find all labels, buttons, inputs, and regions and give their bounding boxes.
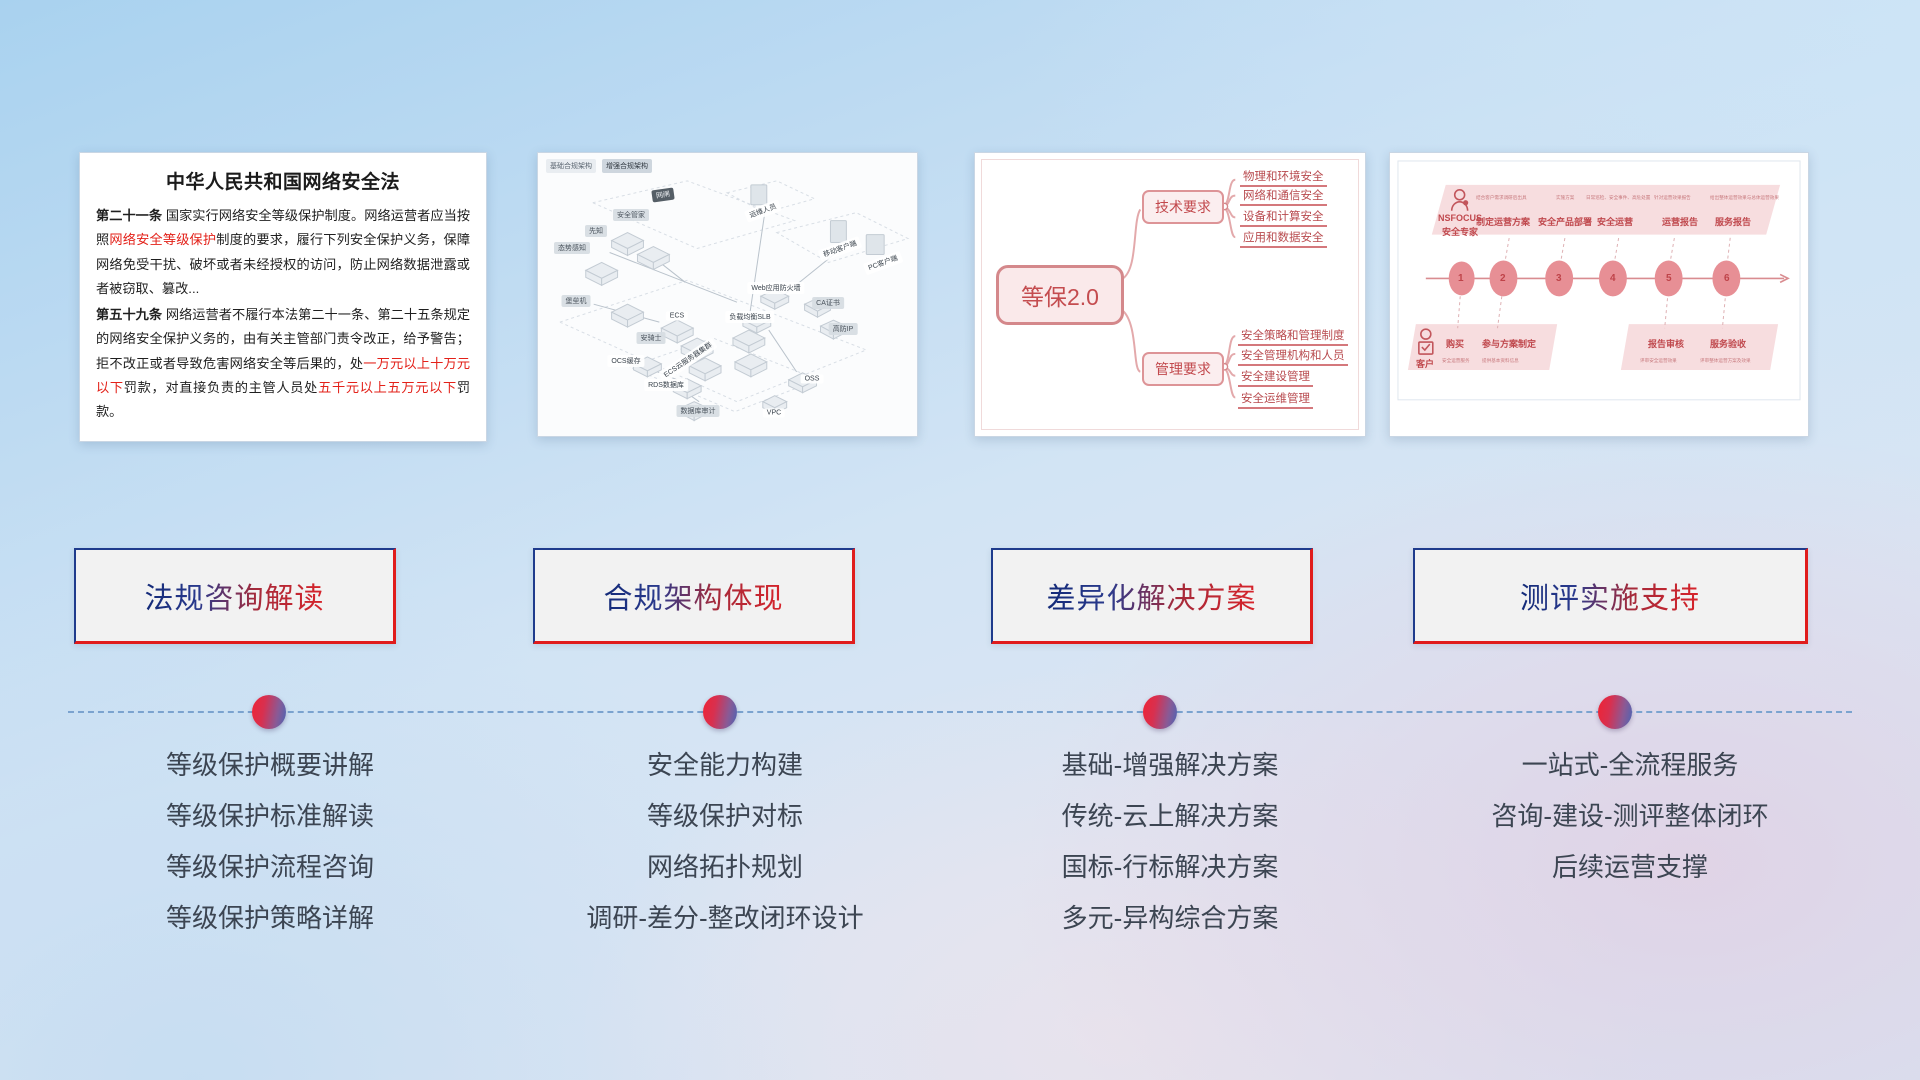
timeline-dot-2[interactable] [703, 695, 737, 729]
list-item: 传统-云上解决方案 [960, 791, 1380, 842]
arch-node-db-audit: 数据库审计 [677, 405, 720, 417]
section-items-column-4: 一站式-全流程服务 咨询-建设-测评整体闭环 后续运营支撑 [1400, 740, 1860, 893]
mindmap-leaf-network-comm: 网络和通信安全 [1240, 187, 1327, 206]
list-item: 等级保护对标 [515, 791, 935, 842]
section-titles-row: 法规咨询解读 合规架构体现 差异化解决方案 测评实施支持 [0, 548, 1920, 644]
mindmap-leaf-org-personnel: 安全管理机构和人员 [1238, 347, 1348, 366]
process-bottom-label-4: 服务验收 [1710, 337, 1746, 350]
law-article-label-1: 第二十一条 [96, 208, 162, 223]
process-top-note-5: 给出整体运营效果与总体运营效果 [1710, 195, 1779, 201]
list-item: 等级保护流程咨询 [60, 842, 480, 893]
list-item: 国标-行标解决方案 [960, 842, 1380, 893]
law-run-2-3: 五千元以上五万元以下 [318, 380, 457, 395]
arch-node-rds-database: RDS数据库 [644, 379, 688, 391]
architecture-connectors [538, 153, 917, 437]
process-top-label-5: 服务报告 [1715, 215, 1751, 228]
mindmap-leaf-ops-mgmt: 安全运维管理 [1238, 390, 1313, 409]
section-title-box-4[interactable]: 测评实施支持 [1413, 548, 1808, 644]
list-item: 基础-增强解决方案 [960, 740, 1380, 791]
law-paragraph-1: 第二十一条 国家实行网络安全等级保护制度。网络运营者应当按照网络安全等级保护制度… [96, 204, 470, 302]
section-items-column-2: 安全能力构建 等级保护对标 网络拓扑规划 调研-差分-整改闭环设计 [515, 740, 935, 944]
timeline-dashed-line [68, 711, 1852, 713]
mbr-mindmap-card[interactable]: 等保2.0 技术要求 管理要求 物理和环境安全 网络和通信安全 设备和计算安全 … [974, 152, 1366, 437]
law-card-body: 中华人民共和国网络安全法 第二十一条 国家实行网络安全等级保护制度。网络运营者应… [80, 153, 486, 435]
section-title-4: 测评实施支持 [1520, 575, 1700, 617]
process-bottom-label-2: 参与方案制定 [1482, 337, 1536, 350]
process-bottom-note-1: 安全运营服务 [1442, 358, 1470, 364]
timeline-dot-3[interactable] [1143, 695, 1177, 729]
mindmap-leaf-policy-system: 安全策略和管理制度 [1238, 327, 1348, 346]
list-item: 调研-差分-整改闭环设计 [515, 893, 935, 944]
cloud-architecture-diagram: 基础合规架构 增强合规架构 [538, 153, 917, 436]
list-item: 网络拓扑规划 [515, 842, 935, 893]
mindmap-body: 等保2.0 技术要求 管理要求 物理和环境安全 网络和通信安全 设备和计算安全 … [975, 153, 1365, 436]
list-item: 后续运营支撑 [1400, 842, 1860, 893]
process-step-3: 3 [1556, 273, 1562, 284]
list-item: 等级保护策略详解 [60, 893, 480, 944]
timeline-dot-1[interactable] [252, 695, 286, 729]
process-top-label-2: 安全产品部署 [1538, 215, 1592, 228]
process-top-label-4: 运营报告 [1662, 215, 1698, 228]
law-card[interactable]: 中华人民共和国网络安全法 第二十一条 国家实行网络安全等级保护制度。网络运营者应… [79, 152, 487, 442]
arch-node-ecs: ECS [666, 312, 688, 321]
list-item: 等级保护标准解读 [60, 791, 480, 842]
arch-node-anti-ddos-ip: 高防IP [829, 323, 858, 335]
image-cards-row: 中华人民共和国网络安全法 第二十一条 国家实行网络安全等级保护制度。网络运营者应… [0, 152, 1920, 442]
section-items-row: 等级保护概要讲解 等级保护标准解读 等级保护流程咨询 等级保护策略详解 安全能力… [0, 740, 1920, 970]
cloud-architecture-card[interactable]: 基础合规架构 增强合规架构 [537, 152, 918, 437]
arch-node-vpc: VPC [763, 409, 785, 418]
process-step-2: 2 [1500, 273, 1506, 284]
process-step-4: 4 [1610, 273, 1616, 284]
arch-node-oss: OSS [801, 375, 824, 384]
arch-node-security-manager: 安全管家 [613, 209, 649, 221]
process-top-note-3: 日常巡检、安全事件、高危处置 [1586, 195, 1650, 201]
list-item: 一站式-全流程服务 [1400, 740, 1860, 791]
timeline [0, 692, 1920, 732]
nsfocus-process-card[interactable]: NSFOCUS 安全专家 结合客户需求调研后出具 制定运营方案 实施方案 安全产… [1389, 152, 1809, 437]
section-title-2: 合规架构体现 [603, 575, 783, 617]
law-card-title: 中华人民共和国网络安全法 [96, 167, 470, 194]
process-top-label-1: 制定运营方案 [1476, 215, 1530, 228]
arch-node-anqishi: 安骑士 [637, 332, 666, 344]
arch-node-xianzhi: 先知 [585, 225, 607, 237]
timeline-dot-4[interactable] [1598, 695, 1632, 729]
section-items-column-1: 等级保护概要讲解 等级保护标准解读 等级保护流程咨询 等级保护策略详解 [60, 740, 480, 944]
process-bottom-note-2: 提供基本资料信息 [1482, 358, 1519, 364]
law-run-2-2: 罚款，对直接负责的主管人员处 [124, 380, 318, 395]
process-top-note-2: 实施方案 [1556, 195, 1574, 201]
process-bottom-label-1: 购买 [1446, 337, 1464, 350]
list-item: 多元-异构综合方案 [960, 893, 1380, 944]
process-role-customer: 客户 [1416, 357, 1434, 370]
mindmap-leaf-physical-env: 物理和环境安全 [1240, 168, 1327, 187]
section-title-box-1[interactable]: 法规咨询解读 [74, 548, 396, 644]
process-step-5: 5 [1666, 273, 1672, 284]
arch-node-waf: Web应用防火墙 [747, 282, 804, 294]
arch-node-situational-awareness: 态势感知 [554, 242, 590, 254]
process-bottom-note-3: 评审安全运营效果 [1640, 358, 1677, 364]
arch-node-ca-certificate: CA证书 [812, 297, 844, 309]
section-title-3: 差异化解决方案 [1046, 575, 1256, 617]
mindmap-frame: 等保2.0 技术要求 管理要求 物理和环境安全 网络和通信安全 设备和计算安全 … [981, 159, 1359, 430]
mindmap-branch-management: 管理要求 [1142, 352, 1224, 386]
mindmap-leaf-app-data: 应用和数据安全 [1240, 229, 1327, 248]
process-step-1: 1 [1458, 273, 1464, 284]
arch-node-bastion-host: 堡垒机 [562, 295, 591, 307]
mindmap-leaf-construction-mgmt: 安全建设管理 [1238, 368, 1313, 387]
mindmap-root-node: 等保2.0 [996, 265, 1124, 325]
list-item: 咨询-建设-测评整体闭环 [1400, 791, 1860, 842]
process-bottom-note-4: 评审整体运营方案及效果 [1700, 358, 1751, 364]
list-item: 等级保护概要讲解 [60, 740, 480, 791]
section-title-1: 法规咨询解读 [144, 575, 324, 617]
process-top-note-1: 结合客户需求调研后出具 [1476, 195, 1527, 201]
process-step-6: 6 [1724, 273, 1730, 284]
law-run-1-1: 网络安全等级保护 [109, 232, 216, 247]
process-top-note-4: 针对运营效果报告 [1654, 195, 1691, 201]
mindmap-leaf-device-compute: 设备和计算安全 [1240, 208, 1327, 227]
section-items-column-3: 基础-增强解决方案 传统-云上解决方案 国标-行标解决方案 多元-异构综合方案 [960, 740, 1380, 944]
process-diagram: NSFOCUS 安全专家 结合客户需求调研后出具 制定运营方案 实施方案 安全产… [1390, 153, 1808, 436]
process-top-label-3: 安全运营 [1597, 215, 1633, 228]
mindmap-branch-technical: 技术要求 [1142, 190, 1224, 224]
law-paragraph-2: 第五十九条 网络运营者不履行本法第二十一条、第二十五条规定的网络安全保护义务的，… [96, 303, 470, 425]
section-title-box-2[interactable]: 合规架构体现 [533, 548, 855, 644]
arch-node-ocs-cache: OCS缓存 [607, 355, 644, 367]
list-item: 安全能力构建 [515, 740, 935, 791]
process-bottom-label-3: 报告审核 [1648, 337, 1684, 350]
law-article-label-2: 第五十九条 [96, 307, 162, 322]
arch-node-slb: 负载均衡SLB [725, 311, 774, 323]
section-title-box-3[interactable]: 差异化解决方案 [991, 548, 1313, 644]
